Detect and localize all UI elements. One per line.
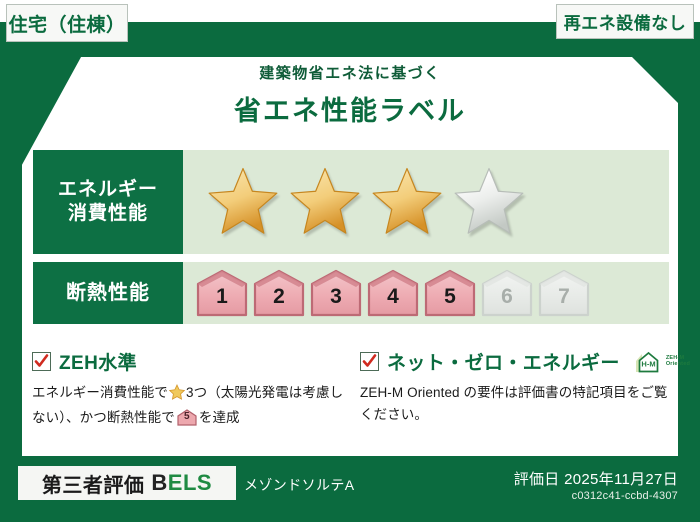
bels-energy-label: 住宅（住棟） 再エネ設備なし 建築物省エネ法に基づく 省エネ性能ラベル エネルギ…: [0, 0, 700, 522]
title-block: 建築物省エネ法に基づく 省エネ性能ラベル: [0, 62, 700, 128]
note-zeh-standard: ZEH水準 エネルギー消費性能で3つ（太陽光発電は考慮しない）、かつ断熱性能で5…: [32, 348, 354, 430]
bels-letters-els: ELS: [168, 470, 212, 495]
note-zeh-body-part1: エネルギー消費性能で: [32, 385, 168, 400]
insulation-level-filled: 1: [195, 269, 249, 317]
insulation-level-number: 5: [444, 286, 456, 307]
insulation-level-empty: 6: [480, 269, 534, 317]
star-filled-icon: [205, 165, 281, 239]
title-subtitle: 建築物省エネ法に基づく: [0, 62, 700, 83]
note-zeh-title: ZEH水準: [59, 348, 137, 375]
insulation-level-filled: 2: [252, 269, 306, 317]
insulation-level-filled: 4: [366, 269, 420, 317]
note-zeh-header: ZEH水準: [32, 348, 354, 375]
tag-building-type: 住宅（住棟）: [6, 4, 128, 42]
insulation-level-number: 4: [387, 286, 399, 307]
note-zeh-body-part3: を達成: [199, 410, 240, 425]
star-filled-icon: [287, 165, 363, 239]
check-icon: [32, 352, 51, 371]
note-net-zero-energy: ネット・ゼロ・エネルギー H-M ZEH-M Oriented ZEH-M Or…: [360, 348, 678, 427]
insulation-level-number: 7: [558, 286, 570, 307]
note-nze-title: ネット・ゼロ・エネルギー: [387, 348, 620, 375]
insulation-level-filled: 3: [309, 269, 363, 317]
evaluation-id: c0312c41-ccbd-4307: [572, 490, 678, 502]
energy-label-line2: 消費性能: [68, 202, 148, 226]
note-nze-body: ZEH-M Oriented の要件は評価書の特記項目をご覧ください。: [360, 382, 678, 427]
zeh-m-oriented-logo-icon: H-M ZEH-M Oriented: [633, 350, 690, 374]
energy-performance-label: エネルギー 消費性能: [33, 150, 183, 254]
insulation-level-number: 3: [330, 286, 342, 307]
bels-plate: 第三者評価 BELS: [18, 466, 236, 500]
inline-house-icon: 5: [177, 409, 197, 426]
insulation-level-number: 6: [501, 286, 513, 307]
energy-performance-row: エネルギー 消費性能: [33, 150, 669, 254]
footer: 第三者評価 BELS メゾンドソルテA 評価日 2025年11月27日 c031…: [0, 462, 700, 522]
inline-house-number: 5: [177, 409, 197, 426]
insulation-performance-row: 断熱性能 1234567: [33, 262, 669, 324]
bels-jp-label: 第三者評価: [42, 469, 145, 498]
evaluation-date: 評価日 2025年11月27日: [514, 468, 678, 489]
insulation-level-scale: 1234567: [195, 269, 591, 317]
bels-en-label: BELS: [151, 470, 212, 496]
svg-text:H-M: H-M: [641, 359, 655, 368]
star-empty-icon: [451, 165, 527, 239]
tag-renewable-energy: 再エネ設備なし: [556, 4, 694, 39]
star-filled-icon: [369, 165, 445, 239]
page-title: 省エネ性能ラベル: [0, 89, 700, 128]
insulation-level-number: 2: [273, 286, 285, 307]
insulation-level-number: 1: [216, 286, 228, 307]
insulation-performance-body: 1234567: [183, 262, 669, 324]
inline-star-icon: [169, 388, 185, 403]
check-icon: [360, 352, 379, 371]
bels-letter-b: B: [151, 470, 167, 495]
zeh-logo-line2: Oriented: [666, 362, 690, 368]
star-rating: [205, 165, 527, 239]
note-nze-header: ネット・ゼロ・エネルギー H-M ZEH-M Oriented: [360, 348, 678, 375]
insulation-level-empty: 7: [537, 269, 591, 317]
energy-performance-body: [183, 150, 669, 254]
note-zeh-body: エネルギー消費性能で3つ（太陽光発電は考慮しない）、かつ断熱性能で5を達成: [32, 382, 354, 430]
building-name: メゾンドソルテA: [244, 475, 355, 495]
energy-label-line1: エネルギー: [58, 178, 158, 202]
insulation-performance-label: 断熱性能: [33, 262, 183, 324]
insulation-level-filled: 5: [423, 269, 477, 317]
